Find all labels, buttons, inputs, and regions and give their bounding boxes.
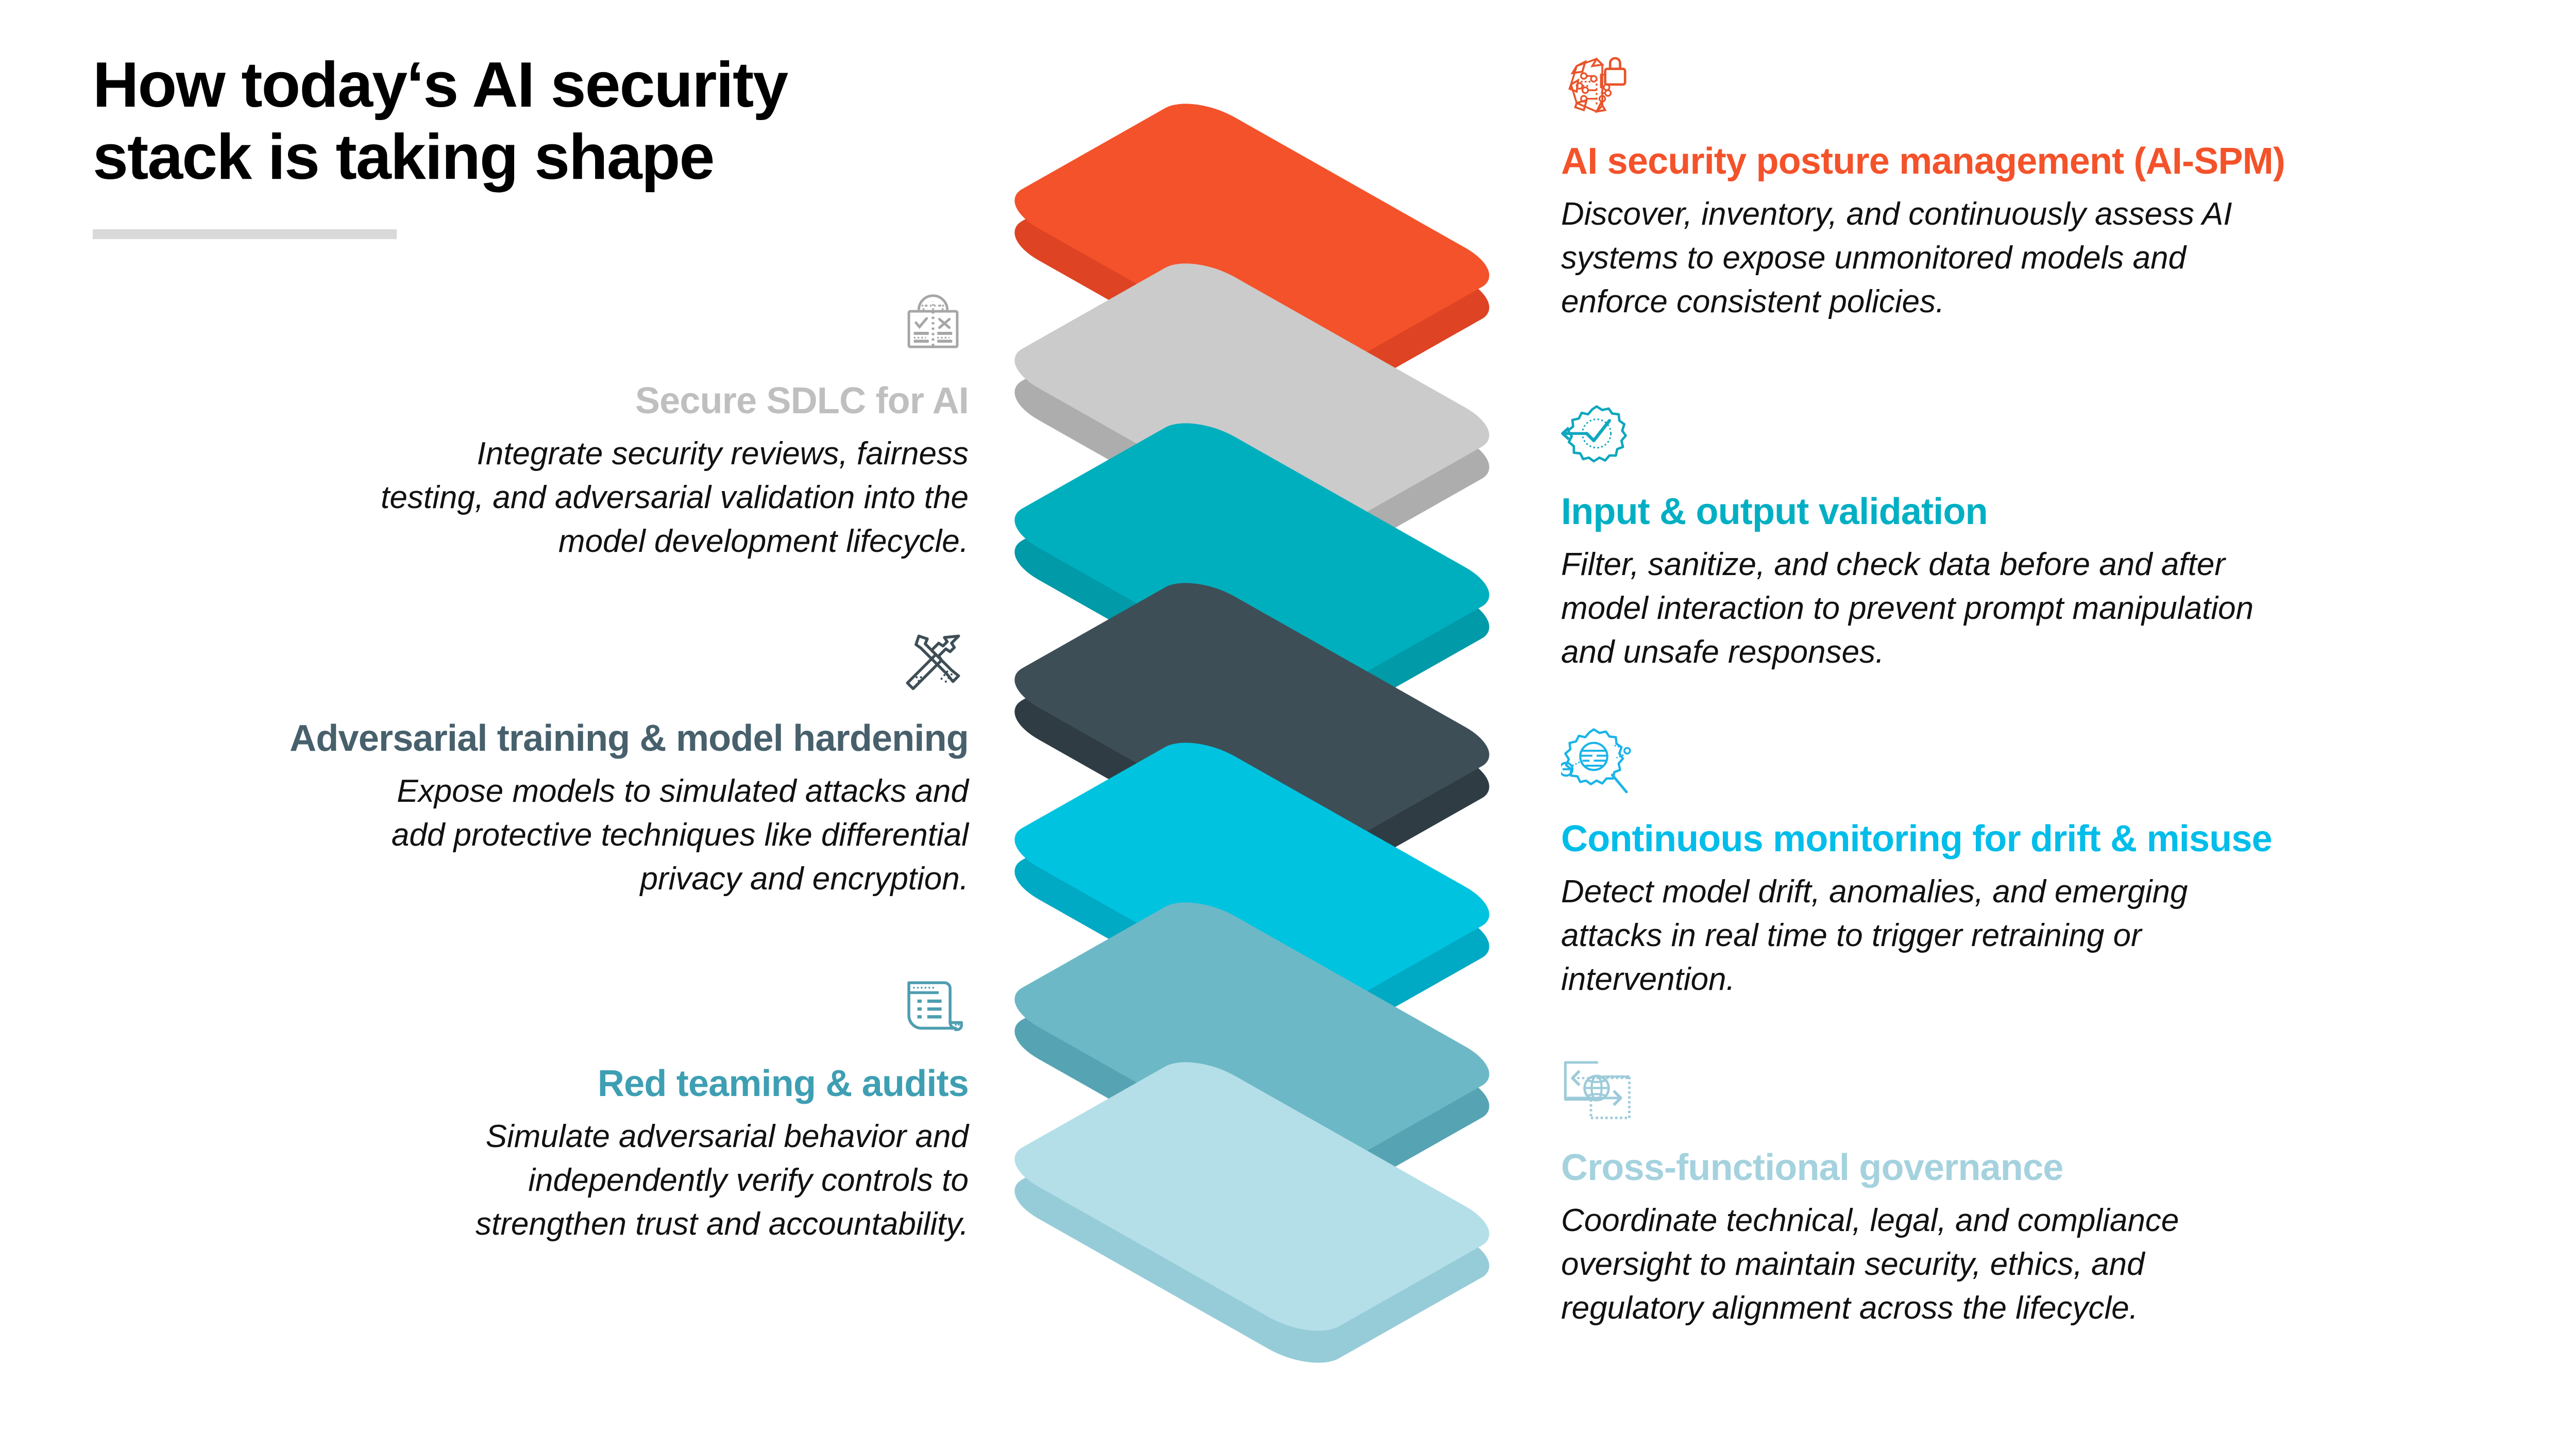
title-block: How today‘s AI security stack is taking … bbox=[93, 49, 969, 239]
left-item-desc: Expose models to simulated attacks and a… bbox=[82, 770, 969, 901]
left-item-secure-sdlc: Secure SDLC for AI Integrate security re… bbox=[82, 289, 969, 563]
right-item-cross-functional-governance: Cross-functional governance Coordinate t… bbox=[1561, 1055, 2530, 1330]
right-item-input-output-validation: Input & output validation Filter, saniti… bbox=[1561, 399, 2530, 674]
left-item-red-teaming: Red teaming & audits Simulate adversaria… bbox=[82, 971, 969, 1246]
right-item-desc: Discover, inventory, and continuously as… bbox=[1561, 193, 2530, 324]
left-item-adversarial-training: Adversarial training & model hardening E… bbox=[82, 626, 969, 901]
right-item-continuous-monitoring: Continuous monitoring for drift & misuse… bbox=[1561, 727, 2530, 1001]
brain-circuit-lock-icon bbox=[1561, 49, 2530, 131]
left-item-title: Adversarial training & model hardening bbox=[82, 718, 969, 760]
wrench-screwdriver-icon bbox=[82, 626, 969, 709]
right-item-title: Continuous monitoring for drift & misuse bbox=[1561, 818, 2530, 860]
left-item-title: Red teaming & audits bbox=[82, 1063, 969, 1105]
right-item-desc: Filter, sanitize, and check data before … bbox=[1561, 543, 2530, 675]
title-accent-rule bbox=[93, 229, 397, 239]
isometric-layer-stack bbox=[994, 77, 1520, 1396]
globe-exchange-governance-icon bbox=[1561, 1055, 2530, 1138]
checklist-compare-icon bbox=[82, 289, 969, 371]
audit-scroll-icon bbox=[82, 971, 969, 1054]
right-item-desc: Coordinate technical, legal, and complia… bbox=[1561, 1199, 2530, 1330]
page-title: How today‘s AI security stack is taking … bbox=[93, 49, 969, 193]
left-item-desc: Simulate adversarial behavior and indepe… bbox=[82, 1115, 969, 1246]
left-item-title: Secure SDLC for AI bbox=[82, 380, 969, 422]
gear-magnifier-monitoring-icon bbox=[1561, 727, 2530, 809]
gear-check-validation-icon bbox=[1561, 399, 2530, 482]
left-item-desc: Integrate security reviews, fairness tes… bbox=[82, 432, 969, 564]
right-item-title: AI security posture management (AI-SPM) bbox=[1561, 141, 2530, 182]
right-item-ai-spm: AI security posture management (AI-SPM) … bbox=[1561, 49, 2530, 324]
right-item-title: Input & output validation bbox=[1561, 491, 2530, 533]
right-item-title: Cross-functional governance bbox=[1561, 1147, 2530, 1189]
right-item-desc: Detect model drift, anomalies, and emerg… bbox=[1561, 870, 2530, 1002]
